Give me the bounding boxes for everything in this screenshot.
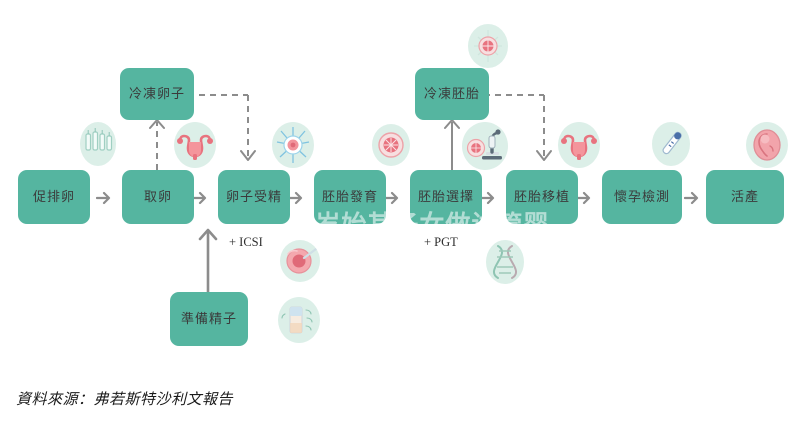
step-box-egg-fertilization[interactable]: 卵子受精 (218, 170, 290, 224)
pregnancy-test-stick-icon (652, 122, 690, 166)
icsi-injection-icon (280, 240, 320, 282)
step-label: 促排卵 (33, 189, 75, 205)
branch-box-sperm-prep[interactable]: 準備精子 (170, 292, 248, 346)
embryo-cell-icon (372, 124, 410, 166)
step-label: 胚胎發育 (322, 189, 378, 205)
source-note: 資料來源：弗若斯特沙利文報告 (16, 388, 233, 409)
step-box-embryo-development[interactable]: 胚胎發育 (314, 170, 386, 224)
microscope-embryo-icon (462, 122, 508, 170)
icsi-caption: + ICSI (229, 235, 263, 250)
step-box-embryo-transfer[interactable]: 胚胎移植 (506, 170, 578, 224)
step-label: 胚胎移植 (514, 189, 570, 205)
sperm-sample-vial-icon (278, 297, 320, 343)
step-box-pregnancy-test[interactable]: 懷孕檢測 (602, 170, 682, 224)
step-box-egg-retrieval[interactable]: 取卵 (122, 170, 194, 224)
flow-arrow-3 (288, 191, 304, 205)
branch-box-frozen-embryo-label: 冷凍胚胎 (424, 86, 480, 102)
step-box-live-birth[interactable]: 活產 (706, 170, 784, 224)
flow-arrow-6 (576, 191, 592, 205)
flow-arrow-7 (684, 191, 700, 205)
diagram-canvas: 冷凍卵子 冷凍胚胎 準備精子 促排卵 取卵 卵子受精 胚胎發育 胚胎選擇 胚胎移… (0, 0, 807, 426)
step-label: 懷孕檢測 (614, 189, 670, 205)
step-label: 取卵 (144, 189, 172, 205)
fetus-icon (746, 122, 788, 168)
sperm-egg-fertilization-icon (272, 122, 314, 168)
flow-arrow-4 (384, 191, 400, 205)
flow-arrow-5 (480, 191, 496, 205)
step-box-ovulation-induction[interactable]: 促排卵 (18, 170, 90, 224)
branch-box-frozen-eggs[interactable]: 冷凍卵子 (120, 68, 194, 120)
step-label: 活產 (731, 189, 759, 205)
branch-box-frozen-eggs-label: 冷凍卵子 (129, 86, 185, 102)
branch-box-sperm-prep-label: 準備精子 (181, 311, 237, 327)
syringe-vials-icon (80, 122, 116, 166)
step-box-embryo-selection[interactable]: 胚胎選擇 (410, 170, 482, 224)
flow-arrow-2 (192, 191, 208, 205)
branch-box-frozen-embryo[interactable]: 冷凍胚胎 (415, 68, 489, 120)
step-label: 卵子受精 (226, 189, 282, 205)
pgt-caption: + PGT (424, 235, 458, 250)
step-label: 胚胎選擇 (418, 189, 474, 205)
uterus-icon (174, 122, 216, 168)
flow-arrow-1 (96, 191, 112, 205)
uterus-icon (558, 122, 600, 168)
connector-sperm-prep-to-fertilization (196, 222, 220, 294)
dna-helix-icon (486, 240, 524, 284)
frozen-embryo-snowflake-icon (468, 24, 508, 68)
